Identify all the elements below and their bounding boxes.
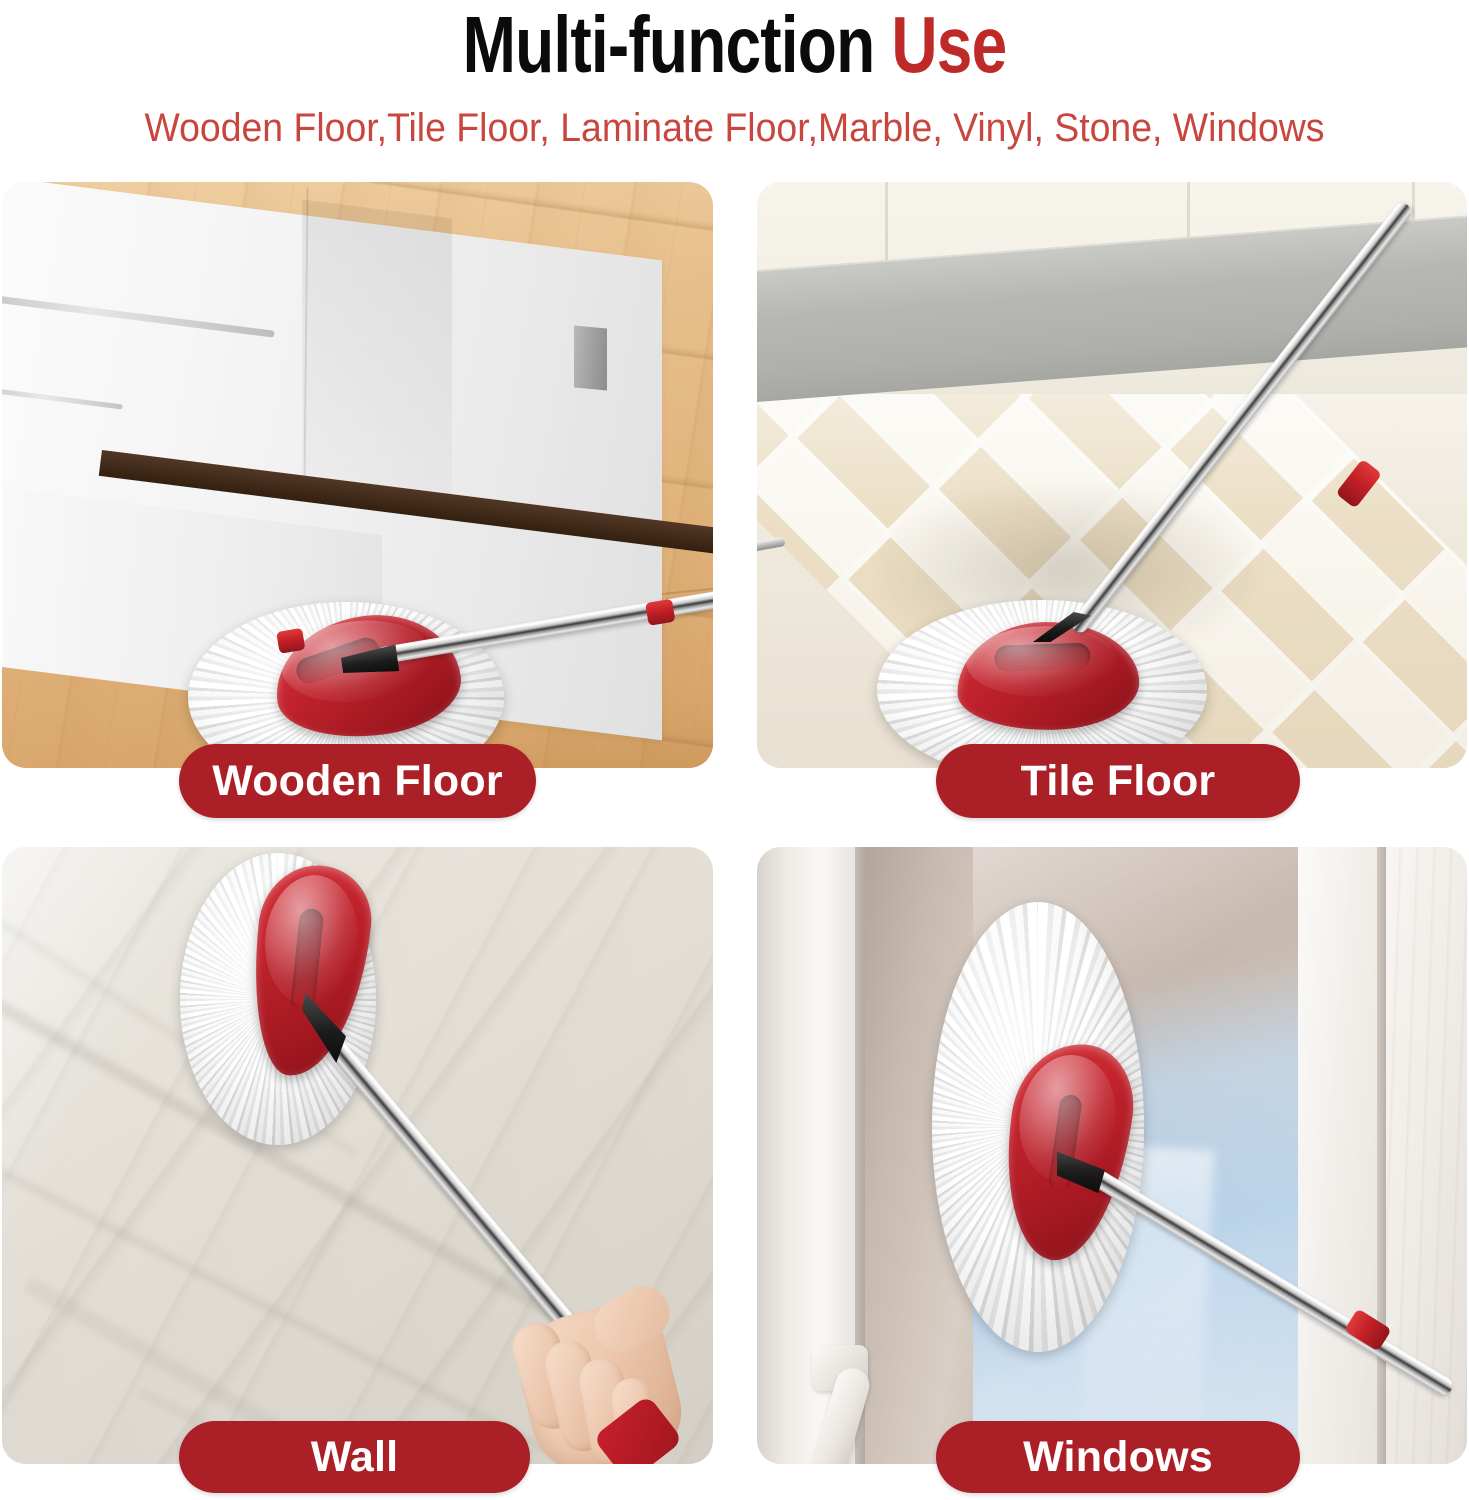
badge-windows: Windows	[936, 1421, 1300, 1493]
badge-label: Windows	[1023, 1433, 1213, 1482]
panel-wall	[2, 847, 713, 1464]
badge-wooden-floor: Wooden Floor	[179, 744, 536, 818]
panel-tile-floor	[757, 182, 1467, 768]
pole-collar-main	[645, 599, 675, 626]
scene-windows	[757, 847, 1467, 1464]
page-title-main: Multi-function	[463, 0, 892, 89]
window-handle[interactable]	[812, 1345, 930, 1464]
window-sash	[1298, 847, 1386, 1464]
badge-label: Tile Floor	[1021, 757, 1216, 806]
badge-label: Wooden Floor	[212, 757, 503, 806]
page-subtitle: Wooden Floor,Tile Floor, Laminate Floor,…	[48, 103, 1422, 153]
cabinet-foot	[574, 326, 607, 391]
badge-wall: Wall	[179, 1421, 530, 1493]
hand-gripping-pole	[507, 1282, 682, 1464]
scene-wooden-floor	[2, 182, 713, 768]
window-sash-groove	[1377, 847, 1386, 1464]
badge-tile-floor: Tile Floor	[936, 744, 1300, 818]
scene-tile-floor	[757, 182, 1467, 768]
scene-wall	[2, 847, 713, 1464]
mop-disc-gloss	[259, 871, 364, 1010]
panel-wooden-floor	[2, 182, 713, 768]
panel-windows	[757, 847, 1467, 1464]
infographic-page: Multi-function Use Wooden Floor,Tile Flo…	[0, 0, 1469, 1500]
cabinet-side-shade	[302, 200, 452, 509]
header: Multi-function Use Wooden Floor,Tile Flo…	[0, 0, 1469, 175]
page-title-accent: Use	[891, 0, 1006, 89]
badge-label: Wall	[311, 1433, 399, 1482]
page-title: Multi-function Use	[147, 2, 1322, 88]
pole-collar	[276, 628, 305, 654]
